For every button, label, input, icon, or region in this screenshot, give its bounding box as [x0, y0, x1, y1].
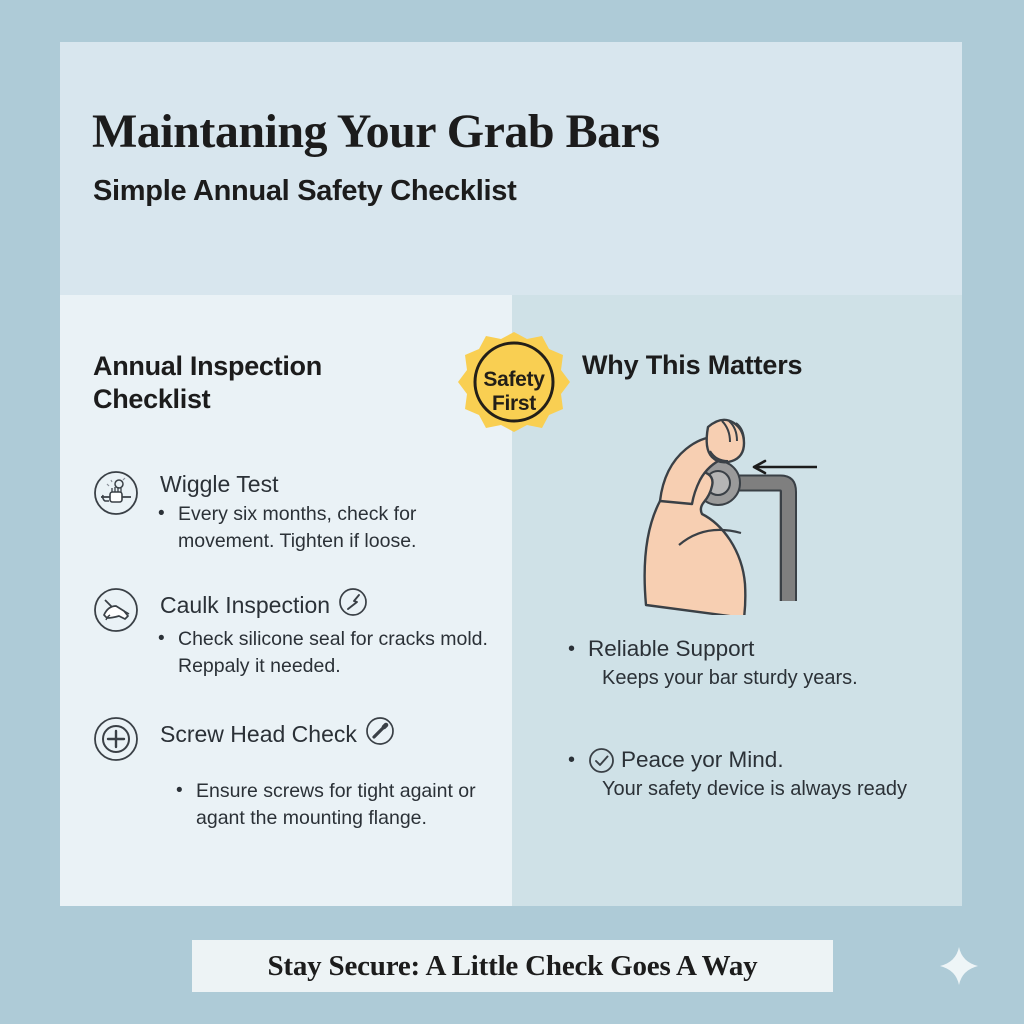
- checklist-item-title: Wiggle Test: [160, 470, 502, 498]
- screwdriver-circle-icon: [365, 716, 395, 752]
- caulk-gun-icon: [93, 587, 139, 633]
- checklist-heading-line2: Checklist: [93, 384, 210, 414]
- page-title: Maintaning Your Grab Bars: [92, 104, 660, 159]
- checklist-column: Annual Inspection Checklist: [60, 295, 512, 906]
- checklist-item[interactable]: Wiggle Test Every six months, check for …: [60, 470, 512, 555]
- benefit-title: Peace yor Mind.: [588, 746, 962, 774]
- benefit-item[interactable]: Peace yor Mind. Your safety device is al…: [512, 746, 962, 803]
- checklist-item-body: Wiggle Test Every six months, check for …: [160, 470, 512, 555]
- footer-text: Stay Secure: A Little Check Goes A Way: [268, 950, 758, 983]
- footer-banner: Stay Secure: A Little Check Goes A Way: [192, 940, 833, 992]
- why-this-matters-column: Why This Matters: [512, 295, 962, 906]
- crack-circle-icon: [338, 587, 368, 623]
- checklist: Wiggle Test Every six months, check for …: [60, 470, 512, 854]
- screw-head-plus-icon: [93, 716, 139, 762]
- checklist-item-body: Screw Head Check Ensure screws for tight…: [160, 716, 512, 832]
- checklist-item-description: Check silicone seal for cracks mold. Rep…: [160, 626, 502, 680]
- benefit-title: Reliable Support: [588, 635, 962, 663]
- checklist-item-body: Caulk Inspection Check silicone seal for…: [160, 587, 512, 680]
- benefit-subtitle: Your safety device is always ready: [602, 776, 962, 803]
- checklist-item[interactable]: Caulk Inspection Check silicone seal for…: [60, 587, 512, 680]
- hand-gripping-bar-icon: [93, 470, 139, 516]
- checklist-item-title: Caulk Inspection: [160, 587, 502, 623]
- page-subtitle: Simple Annual Safety Checklist: [93, 175, 516, 208]
- checklist-item-description: Every six months, check for movement. Ti…: [160, 501, 502, 555]
- sparkle-icon: [938, 945, 980, 987]
- benefit-subtitle: Keeps your bar sturdy years.: [602, 665, 962, 692]
- checklist-heading: Annual Inspection Checklist: [93, 350, 322, 416]
- flexed-arm-holding-grab-bar-icon: [632, 405, 862, 620]
- header-panel: Maintaning Your Grab Bars Simple Annual …: [60, 42, 962, 295]
- safety-first-badge[interactable]: Safety First: [456, 330, 572, 454]
- checklist-heading-line1: Annual Inspection: [93, 351, 322, 381]
- why-this-matters-heading: Why This Matters: [582, 350, 802, 381]
- infographic-card: Maintaning Your Grab Bars Simple Annual …: [60, 42, 962, 906]
- checklist-item-title: Screw Head Check: [160, 716, 502, 752]
- checklist-item[interactable]: Screw Head Check Ensure screws for tight…: [60, 716, 512, 832]
- check-circle-icon: [588, 747, 615, 774]
- checklist-item-description: Ensure screws for tight againt or agant …: [160, 778, 502, 832]
- benefits-list: Reliable Support Keeps your bar sturdy y…: [512, 635, 962, 847]
- benefit-item[interactable]: Reliable Support Keeps your bar sturdy y…: [512, 635, 962, 692]
